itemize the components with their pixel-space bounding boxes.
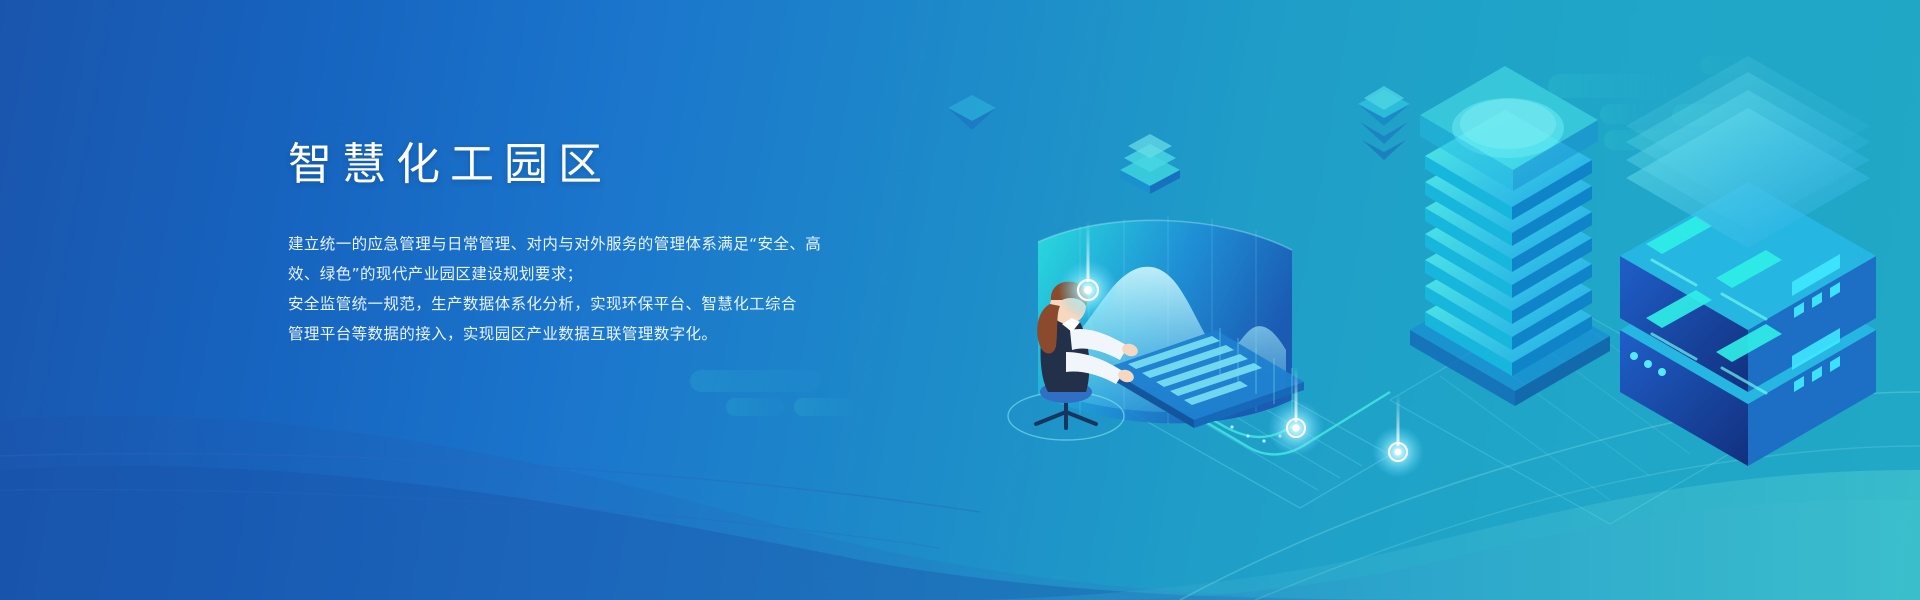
falling-light-streaks <box>1466 10 1572 118</box>
ground-plate <box>1130 300 1780 524</box>
floating-cube-icons <box>948 86 1410 194</box>
page-title: 智慧化工园区 <box>288 140 908 191</box>
data-path-dots <box>1214 416 1281 442</box>
glowing-data-nodes <box>1058 220 1424 478</box>
rack-slab-stack <box>1626 56 1870 248</box>
tower-cap <box>1420 66 1598 191</box>
description-line-3: 安全监管统一规范，生产数据体系化分析，实现环保平台、智慧化工综合 <box>288 289 908 319</box>
isometric-illustration <box>920 0 1920 600</box>
data-server-tower <box>1410 10 1610 406</box>
cloud-bar-shapes <box>1548 56 1812 150</box>
rack-blades <box>1630 216 1840 393</box>
banner-description: 建立统一的应急管理与日常管理、对内与对外服务的管理体系满足“安全、高 效、绿色”… <box>288 191 908 349</box>
cloud-bar-shapes-left <box>690 370 854 416</box>
description-line-1: 建立统一的应急管理与日常管理、对内与对外服务的管理体系满足“安全、高 <box>288 229 908 259</box>
seated-person-with-keyboard <box>1008 282 1304 440</box>
hero-banner: 智慧化工园区 建立统一的应急管理与日常管理、对内与对外服务的管理体系满足“安全、… <box>0 0 1920 600</box>
tower-disc-stack <box>1425 110 1592 376</box>
banner-content: 智慧化工园区 建立统一的应急管理与日常管理、对内与对外服务的管理体系满足“安全、… <box>288 140 908 349</box>
data-path <box>1089 290 1390 454</box>
description-line-4: 管理平台等数据的接入，实现园区产业数据互联管理数字化。 <box>288 319 908 349</box>
server-rack-stack <box>1620 22 1876 466</box>
curved-area-chart-screen <box>1038 216 1292 424</box>
description-line-2: 效、绿色”的现代产业园区建设规划要求； <box>288 259 908 289</box>
